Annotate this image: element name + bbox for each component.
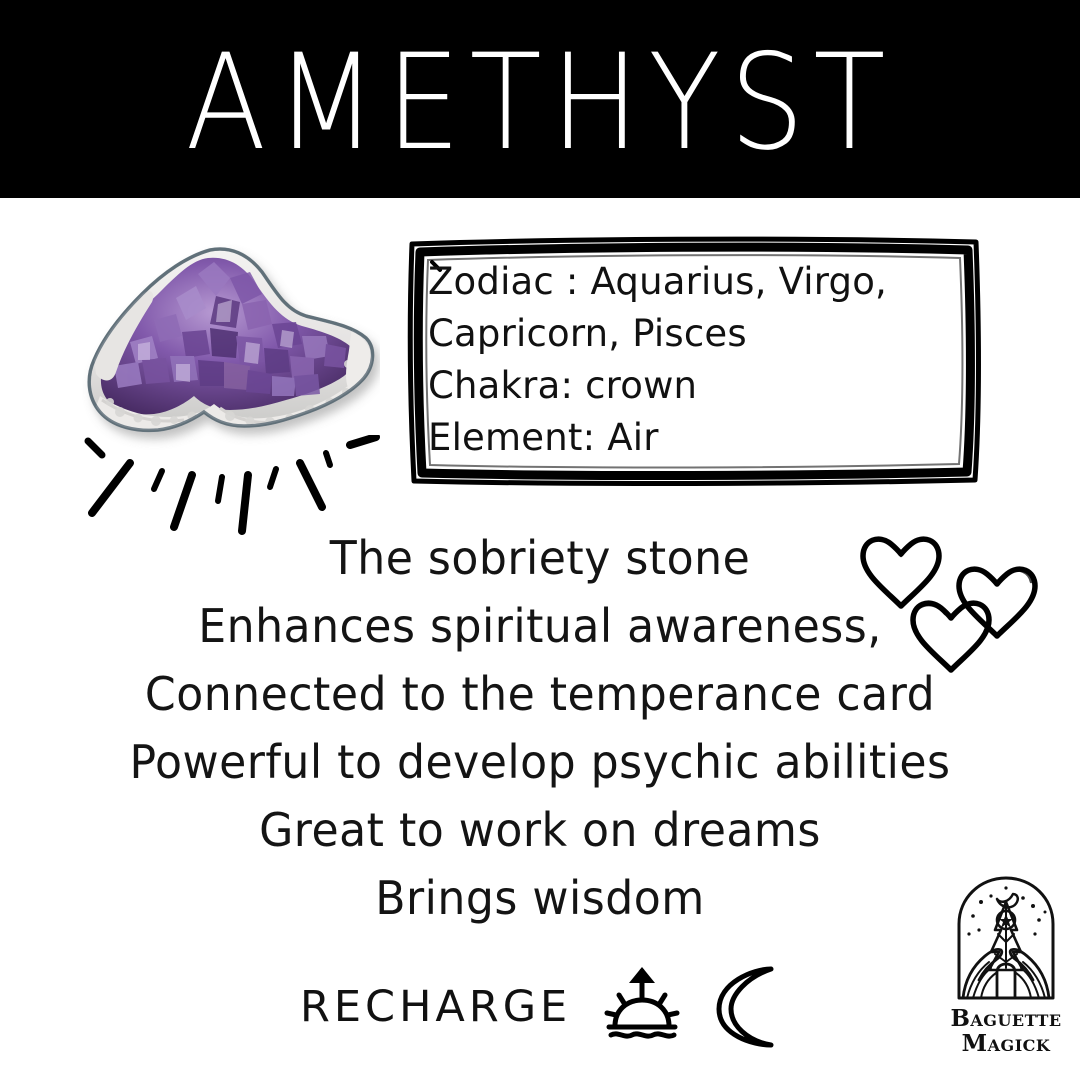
- recharge-row: RECHARGE: [300, 965, 785, 1049]
- body-line-4: Powerful to develop psychic abilities: [22, 728, 1059, 796]
- body-line-5: Great to work on dreams: [22, 796, 1059, 864]
- page-title: AMETHYST: [0, 36, 1080, 168]
- info-line-chakra: Chakra: crown: [428, 360, 974, 412]
- sunrise-icon: [601, 965, 683, 1049]
- info-box: Zodiac : Aquarius, Virgo, Capricorn, Pis…: [402, 232, 988, 490]
- crystal-figure: [70, 240, 390, 540]
- brand-logo: Baguette Magick: [940, 872, 1072, 1056]
- brand-name-line2: Magick: [940, 1031, 1072, 1056]
- heart-outline-icon: [863, 539, 939, 606]
- info-line-zodiac-2: Capricorn, Pisces: [428, 308, 974, 360]
- heart-outline-icon: [913, 603, 989, 670]
- info-line-zodiac-1: Zodiac : Aquarius, Virgo,: [428, 256, 974, 308]
- header-band: AMETHYST: [0, 0, 1080, 198]
- arch-hands-crystal-moon-logo-icon: [951, 872, 1061, 1002]
- crescent-moon-icon: [713, 965, 785, 1049]
- brand-name-line1: Baguette: [940, 1006, 1072, 1031]
- recharge-label: RECHARGE: [300, 982, 571, 1032]
- info-line-element: Element: Air: [428, 412, 974, 464]
- body-line-6: Brings wisdom: [22, 864, 1059, 932]
- hearts-group: [855, 522, 1080, 677]
- info-box-text: Zodiac : Aquarius, Virgo, Capricorn, Pis…: [428, 256, 974, 464]
